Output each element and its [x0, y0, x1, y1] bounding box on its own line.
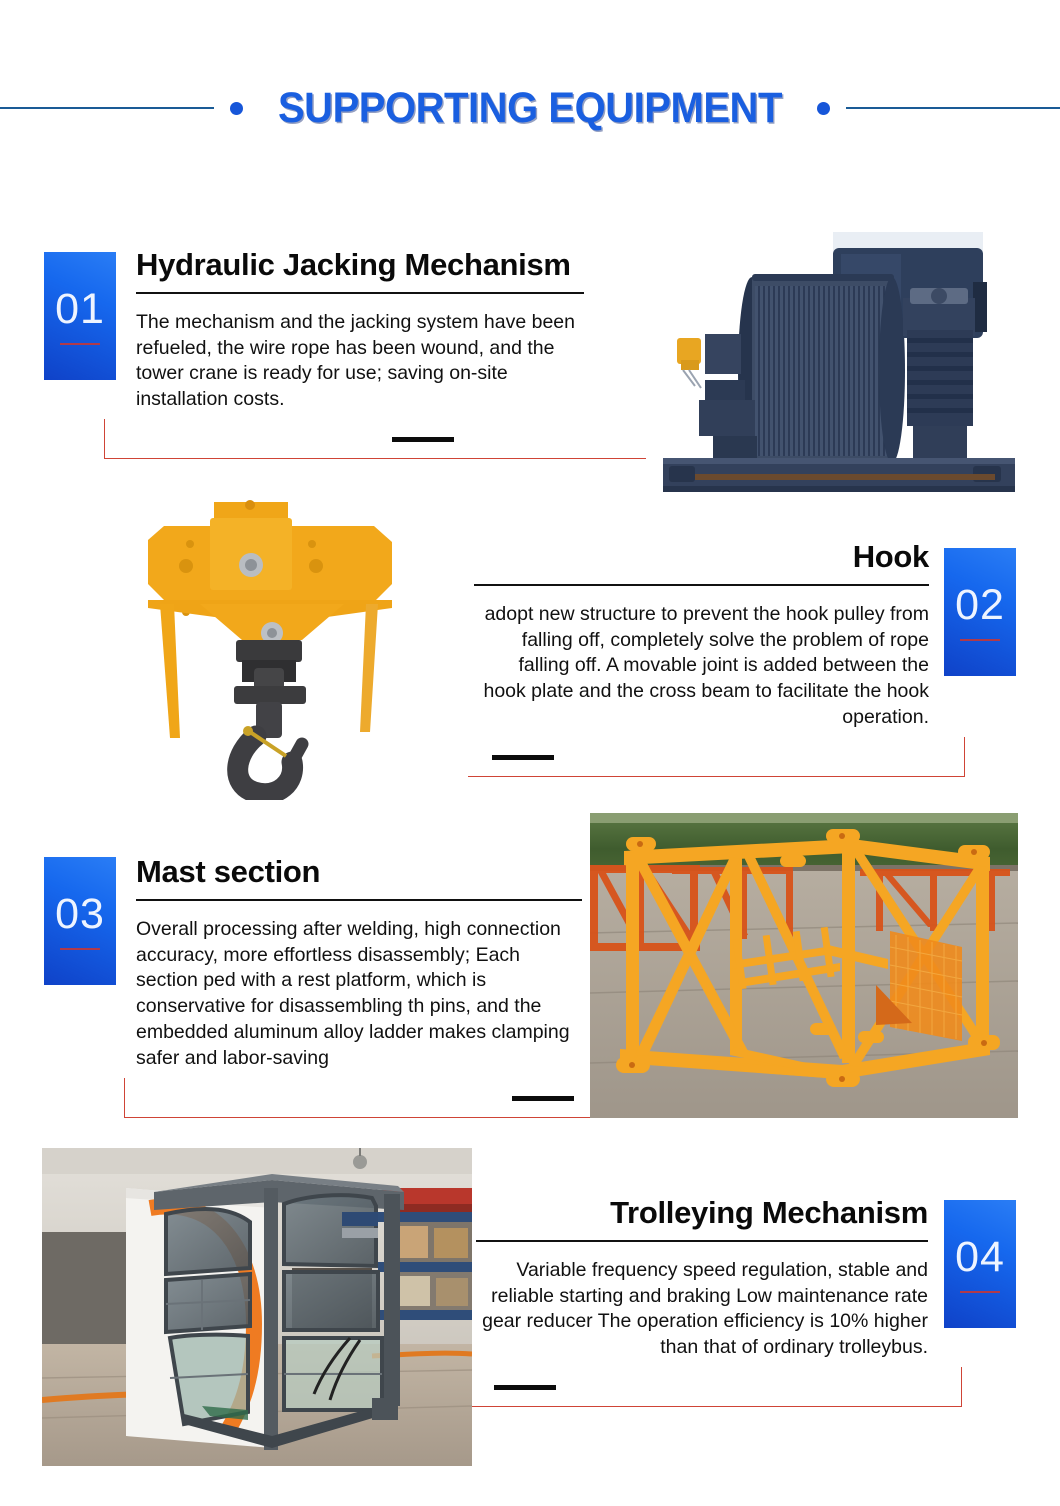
section-03-footer-band: [136, 1076, 582, 1118]
badge-underline: [960, 639, 1000, 641]
hydraulic-jacking-winch-photo: [655, 230, 1030, 505]
section-03-dash-accent: [512, 1096, 574, 1101]
header-dot-left-icon: [230, 102, 243, 115]
section-03: 03 Mast section Overall processing after…: [0, 855, 1060, 1125]
section-03-title-rule: [136, 899, 582, 901]
section-04-footer-band: [476, 1365, 928, 1407]
supporting-equipment-page: SUPPORTING EQUIPMENT 01 Hydraulic Jackin…: [0, 0, 1060, 1506]
section-01-number-badge: 01: [44, 252, 116, 380]
hook-illustration: [130, 500, 420, 800]
section-02: 02 Hook adopt new structure to prevent t…: [0, 540, 1060, 790]
section-04-number: 04: [955, 1236, 1005, 1279]
section-02-dash-accent: [492, 755, 554, 760]
header-rule-right: [846, 107, 1060, 109]
section-01: 01 Hydraulic Jacking Mechanism The mecha…: [0, 248, 1060, 508]
section-01-body: The mechanism and the jacking system hav…: [136, 310, 584, 414]
section-03-number: 03: [55, 893, 105, 936]
section-01-dash-accent: [392, 437, 454, 442]
operator-cab-illustration: [42, 1148, 472, 1466]
section-02-footer-band: [474, 735, 929, 777]
header-rule-left: [0, 107, 214, 109]
hook-block-photo: [130, 500, 420, 800]
section-01-red-frame: [104, 419, 646, 459]
section-04-title-rule: [476, 1240, 928, 1242]
badge-underline: [960, 1291, 1000, 1293]
section-01-number: 01: [55, 288, 105, 331]
section-04-text-column: Trolleying Mechanism Variable frequency …: [476, 1196, 928, 1407]
operator-cab-photo: [42, 1148, 472, 1466]
section-04-dash-accent: [494, 1385, 556, 1390]
section-02-number-badge: 02: [944, 548, 1016, 676]
section-01-text-column: Hydraulic Jacking Mechanism The mechanis…: [136, 248, 584, 459]
section-02-text-column: Hook adopt new structure to prevent the …: [474, 540, 929, 777]
section-04-body: Variable frequency speed regulation, sta…: [476, 1258, 928, 1362]
section-02-body: adopt new structure to prevent the hook …: [474, 602, 929, 732]
section-03-title: Mast section: [136, 855, 582, 889]
mast-section-illustration: [590, 813, 1018, 1118]
section-03-number-badge: 03: [44, 857, 116, 985]
mast-section-photo: [590, 813, 1018, 1118]
page-header: SUPPORTING EQUIPMENT: [0, 78, 1060, 138]
section-02-number: 02: [955, 584, 1005, 627]
section-01-title: Hydraulic Jacking Mechanism: [136, 248, 584, 282]
section-04-title: Trolleying Mechanism: [476, 1196, 928, 1230]
section-02-title-rule: [474, 584, 929, 586]
page-title: SUPPORTING EQUIPMENT: [278, 87, 782, 130]
section-04-number-badge: 04: [944, 1200, 1016, 1328]
section-04: 04 Trolleying Mechanism Variable frequen…: [0, 1196, 1060, 1456]
section-03-body: Overall processing after welding, high c…: [136, 917, 582, 1073]
section-01-title-rule: [136, 292, 584, 294]
header-dot-right-icon: [817, 102, 830, 115]
winch-illustration: [655, 230, 1030, 505]
section-03-text-column: Mast section Overall processing after we…: [136, 855, 582, 1118]
section-02-title: Hook: [474, 540, 929, 574]
badge-underline: [60, 948, 100, 950]
badge-underline: [60, 343, 100, 345]
section-01-footer-band: [136, 417, 584, 459]
